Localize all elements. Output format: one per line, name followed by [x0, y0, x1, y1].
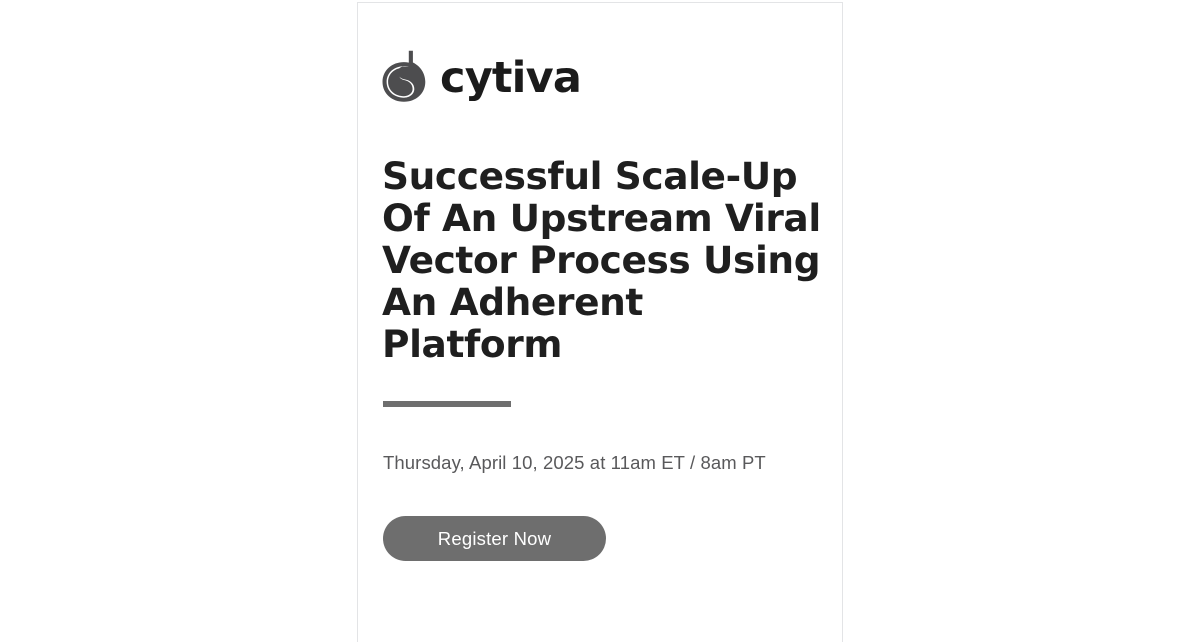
brand-lockup[interactable]: cytiva — [382, 47, 581, 105]
divider — [383, 401, 511, 407]
card-content: cytiva Successful Scale-Up Of An Upstrea… — [382, 3, 820, 642]
register-now-button[interactable]: Register Now — [383, 516, 606, 561]
page-title: Successful Scale-Up Of An Upstream Viral… — [382, 155, 834, 365]
event-datetime: Thursday, April 10, 2025 at 11am ET / 8a… — [383, 450, 766, 476]
webinar-promo-canvas: cytiva Successful Scale-Up Of An Upstrea… — [0, 0, 1200, 630]
brand-wordmark: cytiva — [440, 57, 581, 100]
webinar-promo-card: cytiva Successful Scale-Up Of An Upstrea… — [357, 2, 843, 642]
cytiva-droplet-logo-icon — [382, 50, 427, 102]
